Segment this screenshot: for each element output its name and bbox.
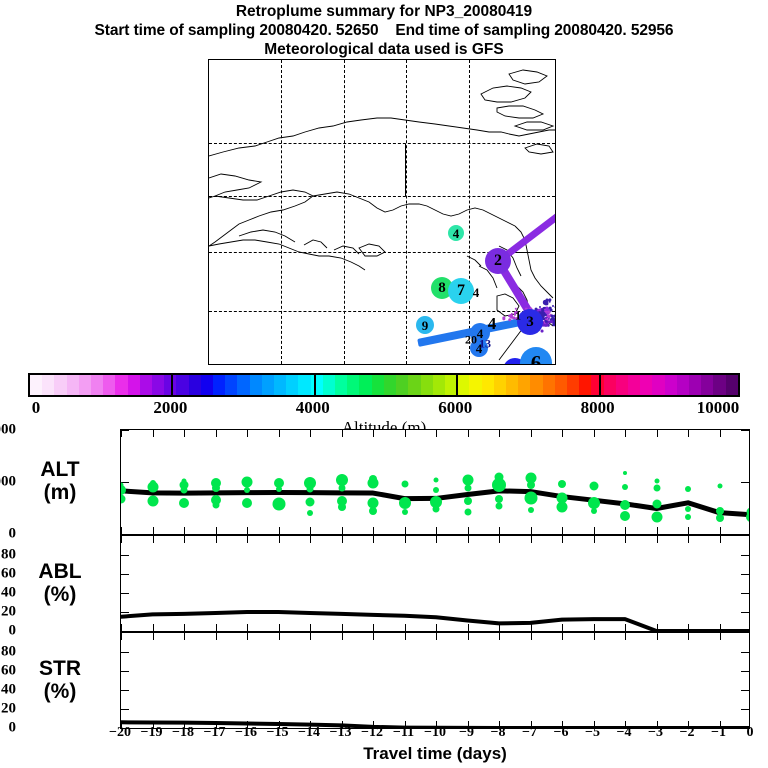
map-text-label: 4: [473, 285, 480, 301]
abl-plot-area: [121, 536, 749, 631]
colorbar-segment: [689, 375, 701, 395]
alt-label-line1: ALT: [6, 458, 114, 481]
x-tick-label: 0: [747, 725, 754, 741]
x-tick-label: −20: [109, 725, 131, 741]
str-y-tick-label: 80: [1, 644, 16, 661]
alt-y-tick-label: 5000: [0, 474, 16, 491]
plume-particle: [549, 300, 552, 303]
x-tick-label: −12: [361, 725, 383, 741]
colorbar-segment: [250, 375, 262, 395]
abl-y-tick-label: 20: [1, 604, 16, 621]
altitude-particle-dot: [242, 498, 252, 508]
map-text-label: 13: [479, 337, 491, 352]
colorbar-segment: [201, 375, 213, 395]
colorbar-segment: [604, 375, 616, 395]
altitude-particle-dot: [464, 485, 471, 492]
altitude-particle-dot: [244, 487, 250, 493]
altitude-particle-dot: [527, 481, 535, 489]
x-tick-label: −9: [459, 725, 474, 741]
str-row-label: STR (%): [6, 657, 114, 703]
altitude-particle-dot: [306, 497, 315, 506]
abl-y-tick-label: 60: [1, 566, 16, 583]
abl-row-label: ABL (%): [6, 560, 114, 606]
map-day-marker[interactable]: 9: [416, 316, 434, 334]
colorbar-segment: [103, 375, 115, 395]
colorbar-segment: [213, 375, 225, 395]
colorbar-segment: [225, 375, 237, 395]
altitude-particle-dot: [622, 484, 628, 490]
colorbar-segment: [713, 375, 725, 395]
colorbar-segment: [176, 375, 188, 395]
altitude-particle-dot: [685, 486, 691, 492]
altitude-particle-dot: [558, 480, 566, 488]
colorbar-segment: [152, 375, 164, 395]
x-tick-label: −2: [680, 725, 695, 741]
alt-plot-area: [121, 430, 749, 534]
x-tick-label: −1: [711, 725, 726, 741]
colorbar-segment: [79, 375, 91, 395]
x-tick-label: −19: [141, 725, 163, 741]
altitude-particle-dot: [338, 503, 346, 511]
abl-y-tick-label: 0: [9, 623, 17, 640]
x-tick-label: −7: [522, 725, 537, 741]
colorbar-segment: [591, 375, 603, 395]
str-y-tick-label: 0: [9, 720, 17, 737]
x-tick-label: −17: [204, 725, 226, 741]
str-y-tick-label: 20: [1, 701, 16, 718]
str-panel[interactable]: [120, 632, 750, 729]
sampling-times: Start time of sampling 20080420. 52650 E…: [0, 21, 768, 40]
colorbar-segment: [408, 375, 420, 395]
x-tick-label: −5: [585, 725, 600, 741]
colorbar-segment: [140, 375, 152, 395]
colorbar-segment: [286, 375, 298, 395]
altitude-particle-dot: [528, 507, 534, 513]
colorbar-divider: [314, 375, 316, 395]
x-axis-title: Travel time (days): [120, 744, 750, 764]
str-plot-area: [121, 633, 749, 728]
colorbar-tick-label: 8000: [581, 398, 615, 418]
colorbar-segment: [652, 375, 664, 395]
altitude-particle-dot: [276, 486, 282, 492]
colorbar-segment: [237, 375, 249, 395]
abl-label-line2: (%): [6, 583, 114, 606]
colorbar-segment: [494, 375, 506, 395]
colorbar-segment: [433, 375, 445, 395]
altitude-particle-dot: [434, 478, 439, 483]
altitude-particle-dot: [399, 497, 411, 509]
colorbar-segment: [726, 375, 738, 395]
colorbar-segment: [616, 375, 628, 395]
altitude-particle-dot: [716, 514, 724, 522]
x-tick-label: −16: [235, 725, 257, 741]
colorbar-segment: [469, 375, 481, 395]
str-y-tick-label: 40: [1, 682, 16, 699]
colorbar-segment: [323, 375, 335, 395]
altitude-particle-dot: [212, 501, 219, 508]
colorbar-segment: [359, 375, 371, 395]
str-y-tick-label: 60: [1, 663, 16, 680]
x-tick-label: −8: [491, 725, 506, 741]
str-series-layer: [121, 633, 749, 728]
altitude-particle-dot: [685, 514, 691, 520]
altitude-particle-dot: [147, 495, 158, 506]
altitude-particle-dot: [557, 501, 568, 512]
altitude-particle-dot: [147, 481, 158, 492]
altitude-particle-dot: [464, 509, 471, 516]
alt-y-tick-label: 0: [9, 526, 17, 543]
colorbar-segment: [189, 375, 201, 395]
colorbar-segment: [396, 375, 408, 395]
colorbar-segment: [54, 375, 66, 395]
alt-label-line2: (m): [6, 481, 114, 504]
plume-particle: [546, 298, 549, 301]
altitude-particle-dot: [717, 484, 722, 489]
colorbar-segment: [347, 375, 359, 395]
x-tick-label: −14: [298, 725, 320, 741]
colorbar-segment: [677, 375, 689, 395]
x-tick-label: −6: [554, 725, 569, 741]
x-tick-label: −10: [424, 725, 446, 741]
colorbar-segment: [67, 375, 79, 395]
altitude-particle-dot: [589, 481, 598, 490]
altitude-particle-dot: [746, 512, 749, 522]
altitude-particle-dot: [307, 486, 314, 493]
colorbar-segment: [457, 375, 469, 395]
colorbar-segment: [530, 375, 542, 395]
colorbar-segment: [555, 375, 567, 395]
x-tick-label: −18: [172, 725, 194, 741]
colorbar-tick-label: 10000: [697, 398, 740, 418]
str-label-line1: STR: [6, 657, 114, 680]
altitude-particle-dot: [620, 500, 630, 510]
map-text-label: 4: [488, 314, 497, 334]
x-tick-label: −11: [393, 725, 414, 741]
altitude-particle-dot: [623, 471, 627, 475]
alt-row-label: ALT (m): [6, 458, 114, 504]
colorbar-segment: [665, 375, 677, 395]
alt-y-tick-label: 10000: [0, 422, 16, 439]
altitude-particle-dot: [652, 499, 661, 508]
plume-particle: [539, 306, 541, 308]
altitude-particle-dot: [685, 506, 691, 512]
graticule-meridian-3: [469, 60, 470, 364]
map-day-marker-label: 9: [422, 319, 429, 332]
plume-particle: [555, 319, 556, 321]
map-day-marker-label: 3: [526, 315, 534, 330]
plume-particle: [549, 320, 553, 324]
colorbar-segment: [372, 375, 384, 395]
colorbar-segment: [506, 375, 518, 395]
colorbar-segment: [164, 375, 176, 395]
map-day-marker[interactable]: 2: [485, 248, 511, 274]
colorbar-segment: [311, 375, 323, 395]
altitude-particle-dot: [401, 481, 408, 488]
altitude-particle-dot: [591, 508, 597, 514]
x-axis-tick-labels: −20−19−18−17−16−15−14−13−12−11−10−9−8−7−…: [0, 725, 768, 745]
map-text-label: 20: [465, 333, 477, 348]
colorbar-segment: [482, 375, 494, 395]
colorbar-segment: [701, 375, 713, 395]
x-tick-label: −13: [330, 725, 352, 741]
plume-particle: [541, 309, 545, 313]
abl-y-tick-label: 80: [1, 547, 16, 564]
x-tick-label: −4: [617, 725, 632, 741]
altitude-particle-dot: [307, 510, 313, 516]
colorbar-segment: [579, 375, 591, 395]
colorbar-segment: [115, 375, 127, 395]
graticule-meridian-0: [281, 60, 282, 364]
alt-panel[interactable]: [120, 429, 750, 535]
colorbar-divider: [599, 375, 601, 395]
map-day-marker[interactable]: 4: [448, 225, 464, 241]
altitude-particle-dot: [654, 478, 659, 483]
map-day-marker-label: 4: [453, 227, 460, 240]
abl-fraction-line: [121, 612, 749, 631]
map-day-marker-label: 7: [457, 283, 465, 299]
plume-particle: [540, 329, 543, 332]
plume-particle: [555, 306, 556, 309]
altitude-particle-dot: [651, 511, 662, 522]
colorbar-gradient: [28, 373, 740, 397]
altitude-particle-dot: [181, 487, 188, 494]
colorbar-segment: [567, 375, 579, 395]
colorbar-segment: [262, 375, 274, 395]
colorbar-tick-label: 4000: [296, 398, 330, 418]
altitude-particle-dot: [272, 498, 285, 511]
abl-panel[interactable]: [120, 535, 750, 632]
colorbar-tick-label: 2000: [153, 398, 187, 418]
colorbar-segment: [298, 375, 310, 395]
plume-particle: [553, 323, 556, 326]
altitude-particle-dot: [620, 511, 630, 521]
colorbar-tick-label: 6000: [438, 398, 472, 418]
altitude-particle-dot: [433, 506, 440, 513]
title-block: Retroplume summary for NP3_20080419 Star…: [0, 0, 768, 59]
colorbar-segment: [518, 375, 530, 395]
plume-particle: [552, 305, 554, 307]
map-day-marker-label: 6: [531, 353, 542, 366]
map-text-label: 1: [515, 309, 521, 324]
colorbar-tick-label: 0: [32, 398, 41, 418]
str-label-line2: (%): [6, 680, 114, 703]
abl-series-layer: [121, 536, 749, 631]
altitude-particle-dot: [369, 507, 377, 515]
graticule-meridian-1: [344, 60, 345, 364]
plume-particle: [549, 309, 552, 312]
colorbar-segment: [335, 375, 347, 395]
map-day-marker-label: 4: [511, 362, 520, 366]
x-tick-label: −3: [648, 725, 663, 741]
altitude-particle-dot: [433, 487, 439, 493]
altitude-particle-dot: [338, 484, 345, 491]
page-title: Retroplume summary for NP3_20080419: [0, 2, 768, 21]
altitude-particle-dot: [496, 503, 503, 510]
graticule-parallel-0: [209, 143, 555, 144]
altitude-particle-dot: [212, 484, 220, 492]
altitude-particle-dot: [464, 497, 472, 505]
graticule-parallel-1: [209, 196, 555, 197]
colorbar-segment: [91, 375, 103, 395]
altitude-colorbar[interactable]: Altitude (m) 0200040006000800010000: [28, 373, 740, 397]
map-day-marker[interactable]: 7: [448, 278, 474, 304]
map-day-marker-label: 8: [438, 281, 446, 296]
altitude-particle-dot: [524, 491, 537, 504]
abl-label-line1: ABL: [6, 560, 114, 583]
altitude-particle-dot: [242, 477, 253, 488]
altitude-particle-dot: [653, 484, 660, 491]
altitude-particle-dot: [402, 509, 408, 515]
colorbar-segment: [543, 375, 555, 395]
colorbar-segment: [421, 375, 433, 395]
graticule-parallel-3: [209, 311, 555, 312]
graticule-meridian-2: [406, 60, 407, 364]
altitude-particle-dot: [179, 498, 189, 508]
colorbar-segment: [42, 375, 54, 395]
colorbar-segment: [274, 375, 286, 395]
colorbar-divider: [456, 375, 458, 395]
colorbar-divider: [171, 375, 173, 395]
colorbar-segment: [640, 375, 652, 395]
altitude-particle-dot: [492, 478, 506, 492]
colorbar-segment: [30, 375, 42, 395]
retroplume-map[interactable]: 42879434465758154420131: [208, 59, 556, 365]
abl-y-tick-label: 40: [1, 585, 16, 602]
colorbar-segment: [384, 375, 396, 395]
met-data-label: Meteorological data used is GFS: [0, 40, 768, 59]
colorbar-segment: [628, 375, 640, 395]
x-tick-label: −15: [267, 725, 289, 741]
map-day-marker-label: 2: [494, 253, 502, 269]
altitude-particle-dot: [368, 477, 379, 488]
colorbar-segment: [128, 375, 140, 395]
